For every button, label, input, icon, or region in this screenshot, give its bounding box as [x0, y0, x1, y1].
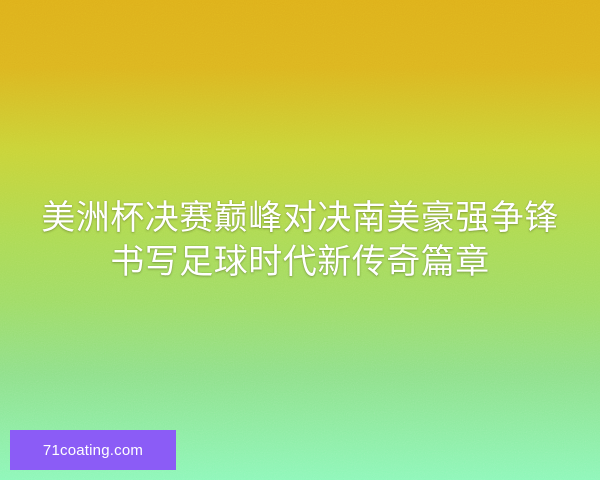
cover-headline: 美洲杯决赛巅峰对决南美豪强争锋书写足球时代新传奇篇章	[28, 196, 572, 284]
cover-image-card: 美洲杯决赛巅峰对决南美豪强争锋书写足球时代新传奇篇章 71coating.com	[0, 0, 600, 480]
site-watermark-badge: 71coating.com	[10, 430, 176, 470]
site-watermark-label: 71coating.com	[43, 443, 143, 458]
headline-container: 美洲杯决赛巅峰对决南美豪强争锋书写足球时代新传奇篇章	[0, 0, 600, 480]
